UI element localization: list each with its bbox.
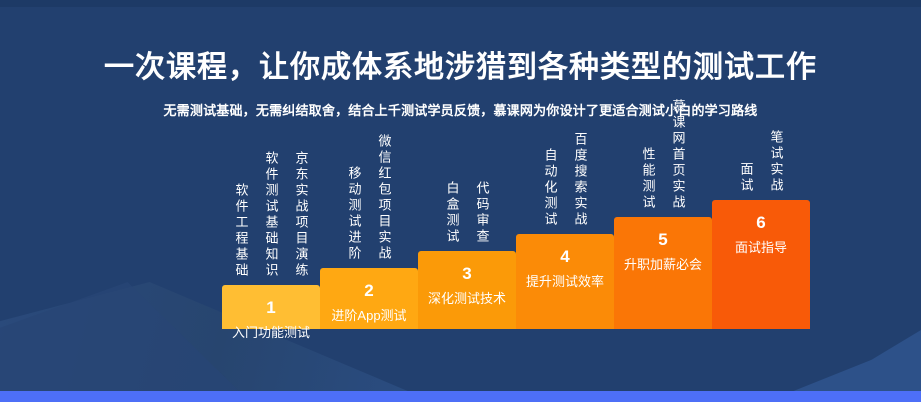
step-number: 1 xyxy=(222,299,320,317)
decorative-polygon-right xyxy=(791,330,921,392)
promo-banner: 一次课程，让你成体系地涉猎到各种类型的测试工作 无需测试基础，无需纠结取舍，结合… xyxy=(0,0,921,402)
bottom-accent-bar xyxy=(0,391,921,402)
step-caption: 面试指导 xyxy=(712,240,810,256)
step-topic-group: 白盒测试代码审查 xyxy=(418,181,516,245)
page-title: 一次课程，让你成体系地涉猎到各种类型的测试工作 xyxy=(0,48,921,88)
step-topic: 软件工程基础 xyxy=(232,183,251,279)
step-topic-group: 面试笔试实战 xyxy=(712,130,810,194)
page-subtitle: 无需测试基础，无需纠结取舍，结合上千测试学员反馈，慕课网为你设计了更适合测试小白… xyxy=(0,100,921,119)
step-number: 2 xyxy=(320,282,418,300)
step-topic: 白盒测试 xyxy=(443,181,462,245)
step-topic: 代码审查 xyxy=(473,181,492,245)
step-topic: 移动测试进阶 xyxy=(345,166,364,262)
step-topic-group: 软件工程基础软件测试基础知识京东实战项目演练 xyxy=(222,151,320,279)
roadmap-step[interactable]: 3深化测试技术 xyxy=(418,251,516,329)
step-topic: 自动化测试 xyxy=(541,148,560,228)
step-caption: 入门功能测试 xyxy=(222,325,320,341)
step-caption: 进阶App测试 xyxy=(320,308,418,324)
step-topic: 笔试实战 xyxy=(767,130,786,194)
step-number: 5 xyxy=(614,231,712,249)
step-number: 3 xyxy=(418,265,516,283)
step-topic: 性能测试 xyxy=(639,147,658,211)
step-caption: 深化测试技术 xyxy=(418,291,516,307)
step-topic: 京东实战项目演练 xyxy=(292,151,311,279)
step-topic: 软件测试基础知识 xyxy=(262,151,281,279)
step-number: 6 xyxy=(712,214,810,232)
step-topic-group: 移动测试进阶微信红包项目实战 xyxy=(320,134,418,262)
step-caption: 升职加薪必会 xyxy=(614,257,712,273)
banner-header: 一次课程，让你成体系地涉猎到各种类型的测试工作 无需测试基础，无需纠结取舍，结合… xyxy=(0,48,921,119)
roadmap-step[interactable]: 6面试指导 xyxy=(712,200,810,329)
step-number: 4 xyxy=(516,248,614,266)
step-caption: 提升测试效率 xyxy=(516,274,614,290)
step-topic: 微信红包项目实战 xyxy=(375,134,394,262)
step-topic: 百度搜索实战 xyxy=(571,132,590,228)
step-topic-group: 自动化测试百度搜索实战 xyxy=(516,132,614,228)
roadmap-step[interactable]: 1入门功能测试 xyxy=(222,285,320,329)
roadmap-step[interactable]: 4提升测试效率 xyxy=(516,234,614,329)
roadmap-step[interactable]: 5升职加薪必会 xyxy=(614,217,712,329)
roadmap-step[interactable]: 2进阶App测试 xyxy=(320,268,418,329)
step-topic: 面试 xyxy=(737,162,756,194)
top-strip xyxy=(0,0,921,7)
